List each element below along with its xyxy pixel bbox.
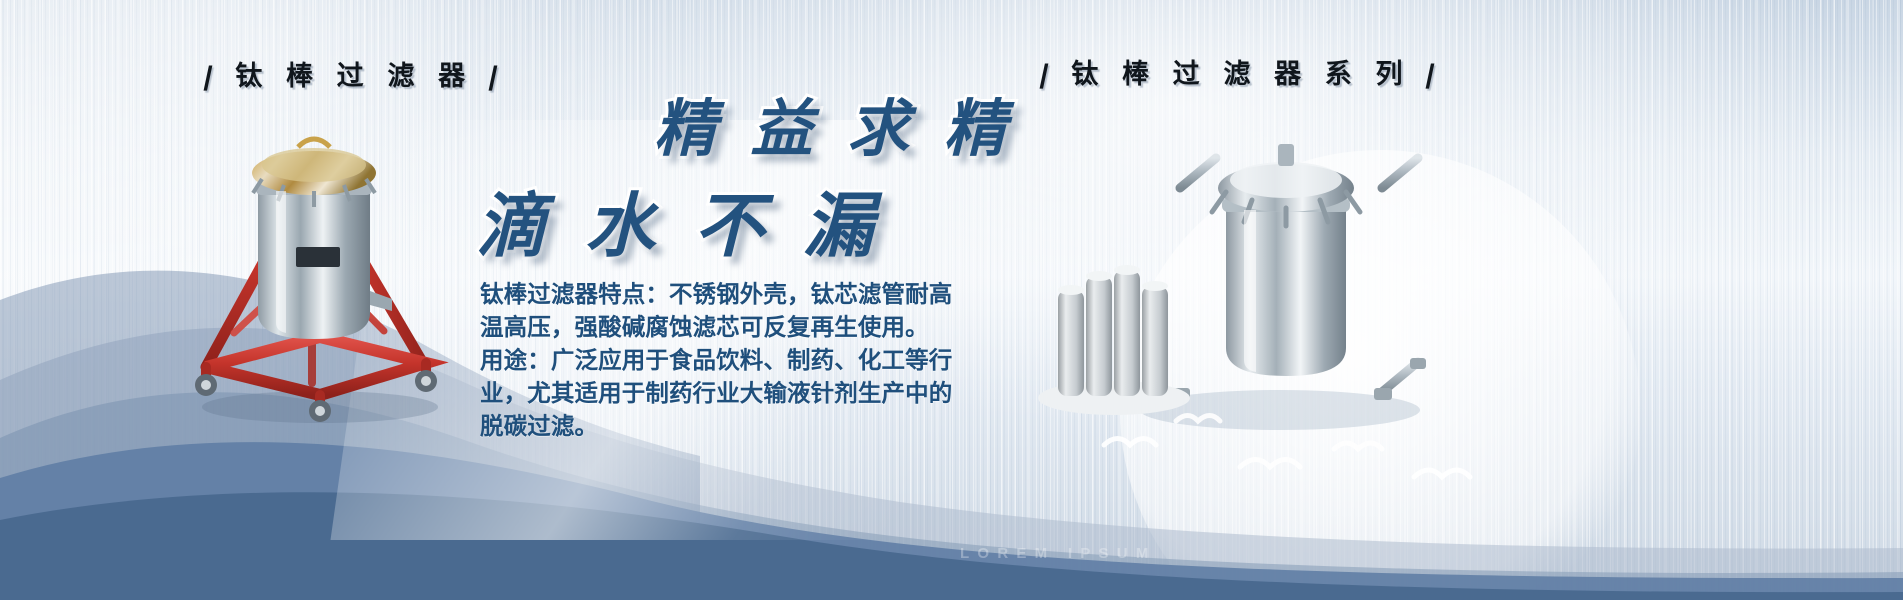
promo-banner: | 钛 棒 过 滤 器 | | 钛 棒 过 滤 器 系 列 | 精 益 求 精 … <box>0 0 1903 600</box>
body-line-4: 业，尤其适用于制药行业大输液针剂生产中的 <box>480 377 992 410</box>
body-line-1: 钛棒过滤器特点：不锈钢外壳，钛芯滤管耐高 <box>480 278 992 311</box>
kicker-right: | 钛 棒 过 滤 器 系 列 | <box>1040 52 1442 91</box>
headline-line-1: 精 益 求 精 <box>654 78 1014 168</box>
body-copy: 钛棒过滤器特点：不锈钢外壳，钛芯滤管耐高 温高压，强酸碱腐蚀滤芯可反复再生使用。… <box>480 278 992 443</box>
kicker-left-label: 钛 棒 过 滤 器 <box>235 61 473 91</box>
kicker-left-bar-end: | <box>485 61 507 92</box>
headline-line-2: 滴 水 不 漏 <box>476 170 883 271</box>
kicker-right-bar-start: | <box>1037 59 1059 90</box>
kicker-right-label: 钛 棒 过 滤 器 系 列 <box>1071 59 1410 89</box>
watermark-text: LOREM IPSUM <box>960 545 1157 562</box>
birds-decoration <box>1090 405 1510 515</box>
kicker-left: | 钛 棒 过 滤 器 | <box>204 54 504 93</box>
body-line-2: 温高压，强酸碱腐蚀滤芯可反复再生使用。 <box>480 311 992 344</box>
product-image-left <box>170 95 460 425</box>
kicker-right-bar-end: | <box>1423 59 1445 90</box>
kicker-left-bar-start: | <box>201 61 223 92</box>
body-line-3: 用途：广泛应用于食品饮料、制药、化工等行 <box>480 344 992 377</box>
body-line-5: 脱碳过滤。 <box>480 410 992 443</box>
